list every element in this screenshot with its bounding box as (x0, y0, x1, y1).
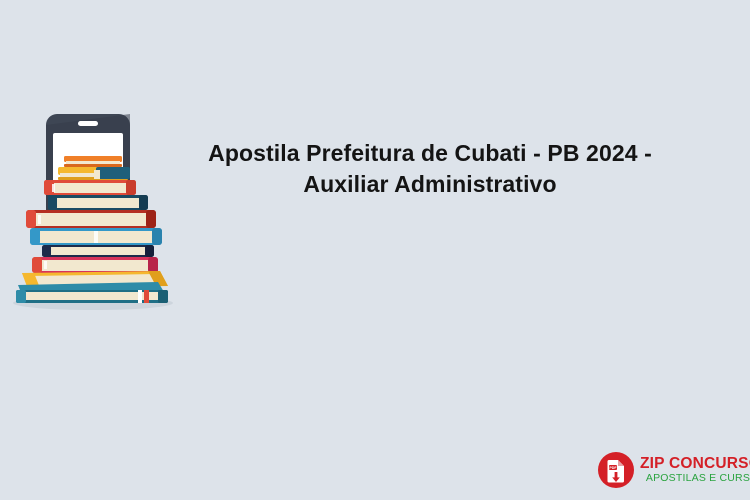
book-teal-base (16, 282, 168, 303)
book-navy-upper (48, 195, 148, 210)
book-top-orange (64, 156, 122, 167)
book-crimson (32, 257, 158, 273)
pdf-download-glyph: PDF (598, 452, 634, 488)
brand-logo[interactable]: PDF ZIP CONCURSOS APOSTILAS E CURSOS (598, 450, 742, 490)
book-red (44, 180, 136, 195)
book-blue (30, 228, 162, 245)
books-tablet-graphic (8, 110, 178, 310)
book-navy-lower (42, 245, 154, 257)
book-maroon (26, 210, 156, 228)
book-top-teal (94, 167, 130, 179)
product-banner: Apostila Prefeitura de Cubati - PB 2024 … (0, 0, 750, 500)
product-title: Apostila Prefeitura de Cubati - PB 2024 … (170, 138, 690, 200)
pdf-download-icon: PDF (598, 452, 634, 488)
books-tablet-illustration (8, 110, 178, 310)
svg-text:PDF: PDF (609, 466, 617, 470)
logo-text-block: ZIP CONCURSOS APOSTILAS E CURSOS (640, 455, 750, 485)
logo-brand-name: ZIP CONCURSOS (640, 455, 750, 472)
logo-tagline: APOSTILAS E CURSOS (640, 472, 750, 485)
